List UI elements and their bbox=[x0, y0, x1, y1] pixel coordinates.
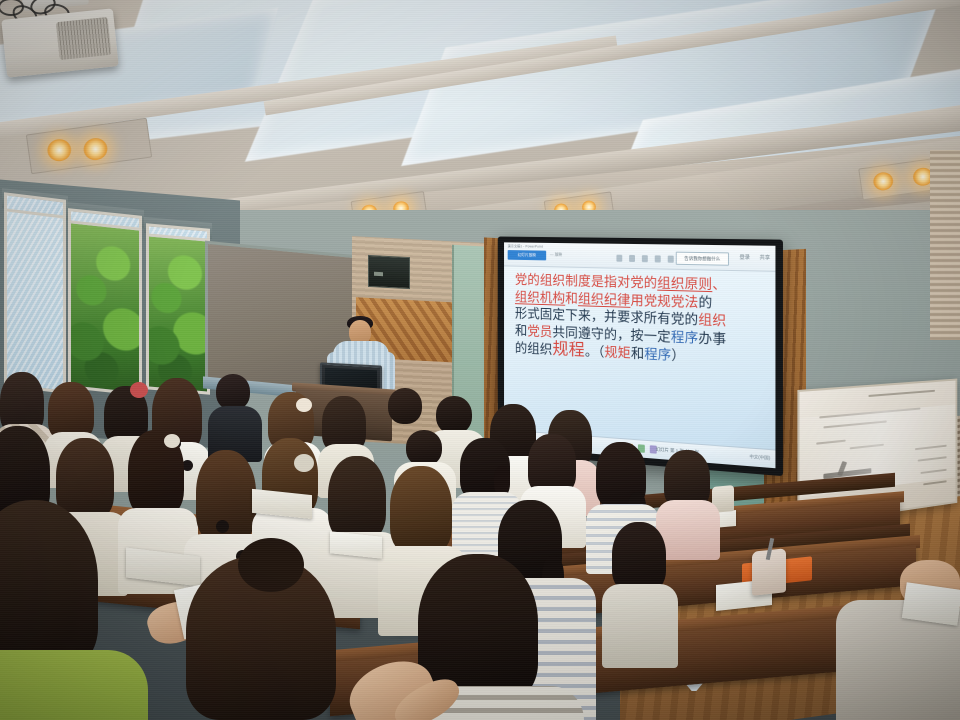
window-pane-frosted bbox=[4, 208, 66, 394]
shapes-icon[interactable] bbox=[642, 255, 648, 262]
toolbar-right-group[interactable]: 登录 共享 bbox=[739, 254, 770, 262]
pen-icon[interactable] bbox=[629, 254, 635, 261]
speaker-indicator-icon bbox=[374, 272, 383, 276]
search-box[interactable]: 告诉我你想做什么 bbox=[676, 252, 729, 266]
ribbon-tab-slideshow[interactable]: 幻灯片放映 bbox=[508, 250, 547, 260]
slide-text-segment: 和 bbox=[631, 347, 644, 363]
slide-text-segment: 党规党法 bbox=[644, 294, 699, 311]
search-placeholder: 告诉我你想做什么 bbox=[677, 253, 728, 265]
projector-vent bbox=[56, 17, 112, 60]
slide-text-segment: 党员 bbox=[527, 325, 552, 341]
ribbon-tab-label: 幻灯片放映 bbox=[508, 250, 547, 260]
share-button[interactable]: 共享 bbox=[759, 254, 770, 261]
slide-text-segment: 、 bbox=[712, 278, 726, 294]
slide-text-segment: 。（ bbox=[585, 345, 605, 361]
slide-text-segment: 和 bbox=[515, 324, 527, 339]
slide-text-segment: 的组织 bbox=[515, 342, 553, 358]
ribbon-subtitle: — 放映 bbox=[550, 252, 562, 258]
signin-button[interactable]: 登录 bbox=[739, 254, 750, 261]
paper-sheet bbox=[902, 582, 960, 625]
slide-text-segment: 是指对党的 bbox=[591, 275, 657, 292]
slide-text-segment: 规矩 bbox=[605, 346, 631, 362]
lecture-hall-photo: 演示文稿1 - PowerPoint 幻灯片放映 — 放映 告诉我你想做什么 bbox=[0, 0, 960, 720]
slide-text-segment: 办事 bbox=[698, 331, 726, 348]
slide-text-segment: 组织 bbox=[698, 313, 726, 329]
slide-text-segment: 组织纪律 bbox=[578, 292, 630, 308]
slide-text-segment: 用 bbox=[630, 293, 643, 308]
slide-text-segment: 党的 bbox=[515, 273, 540, 288]
slide-text-segment: ） bbox=[671, 349, 685, 365]
slide-text-body: 党的组织制度是指对党的组织原则、组织机构和组织纪律用党规党法的形式固定下来，并要… bbox=[504, 267, 775, 449]
slide-text-segment: 和 bbox=[565, 292, 578, 307]
slide-text-segment: 规程 bbox=[552, 340, 584, 361]
slide-text-segment: 组织制度 bbox=[540, 274, 591, 290]
text-icon[interactable] bbox=[655, 255, 661, 262]
cursor-icon[interactable] bbox=[616, 254, 622, 261]
slide-text-segment: 程序 bbox=[671, 330, 699, 346]
window-pane-trees bbox=[68, 220, 142, 396]
ceiling-projector bbox=[1, 8, 118, 77]
app-titlebar: 演示文稿1 - PowerPoint bbox=[508, 243, 543, 248]
slide-text-segment: 组织原则 bbox=[657, 277, 712, 294]
slide-text-segment: 组织机构 bbox=[515, 290, 565, 306]
slide-text-segment: 的 bbox=[698, 295, 712, 311]
perforated-wall-panel bbox=[930, 150, 960, 340]
language-indicator[interactable]: 中文(中国) bbox=[749, 454, 770, 462]
window-pane-trees bbox=[146, 233, 210, 395]
slide-text-segment: 程序 bbox=[644, 348, 671, 364]
table-icon[interactable] bbox=[668, 255, 674, 262]
